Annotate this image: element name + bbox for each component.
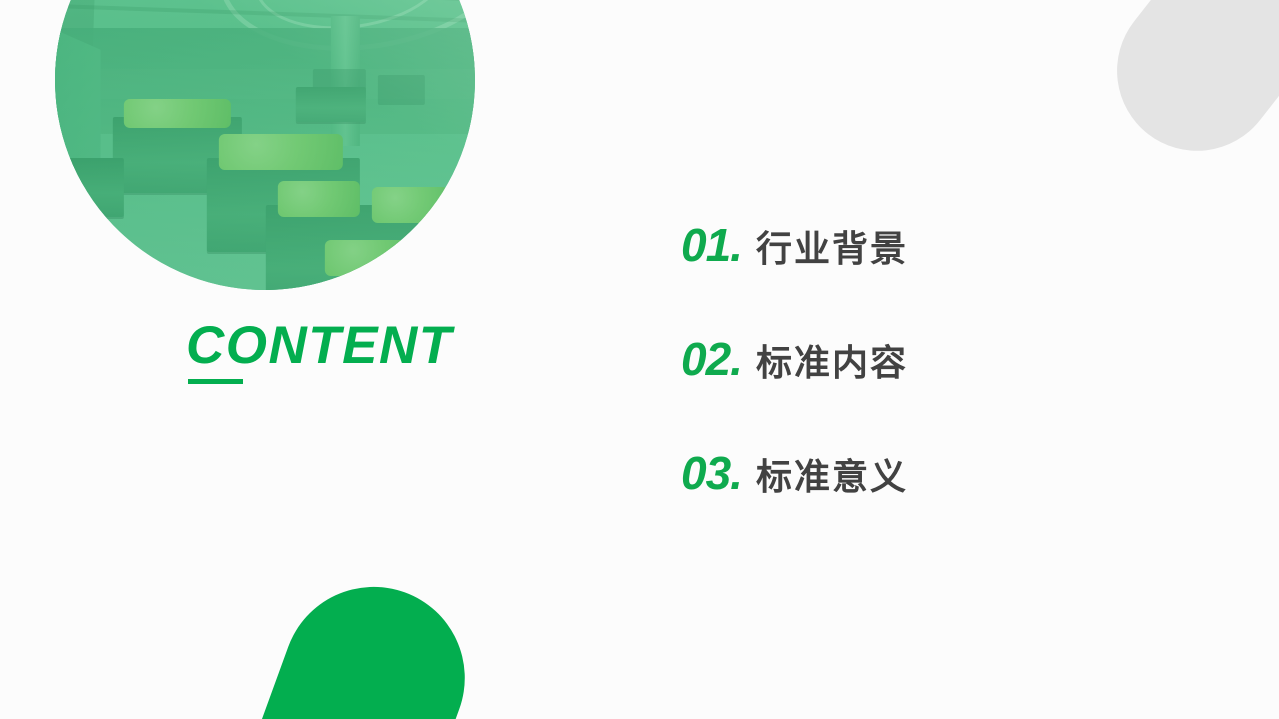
agenda-number: 03.: [681, 450, 742, 496]
agenda-item-02[interactable]: 02. 标准内容: [681, 336, 908, 382]
agenda-label: 标准意义: [756, 459, 908, 495]
slide-canvas: CONTENT 01. 行业背景 02. 标准内容 03. 标准意义: [0, 0, 1279, 719]
decorative-teardrop-grey: [1085, 0, 1279, 183]
agenda-item-01[interactable]: 01. 行业背景: [681, 222, 908, 268]
agenda-number: 02.: [681, 336, 742, 382]
decorative-teardrop-green: [236, 561, 491, 719]
agenda-label: 行业背景: [756, 231, 908, 267]
title-underline: [188, 379, 243, 384]
agenda-label: 标准内容: [756, 345, 908, 381]
page-title: CONTENT: [186, 319, 453, 372]
agenda-number: 01.: [681, 222, 742, 268]
agenda-list: 01. 行业背景 02. 标准内容 03. 标准意义: [681, 222, 908, 496]
agenda-item-03[interactable]: 03. 标准意义: [681, 450, 908, 496]
